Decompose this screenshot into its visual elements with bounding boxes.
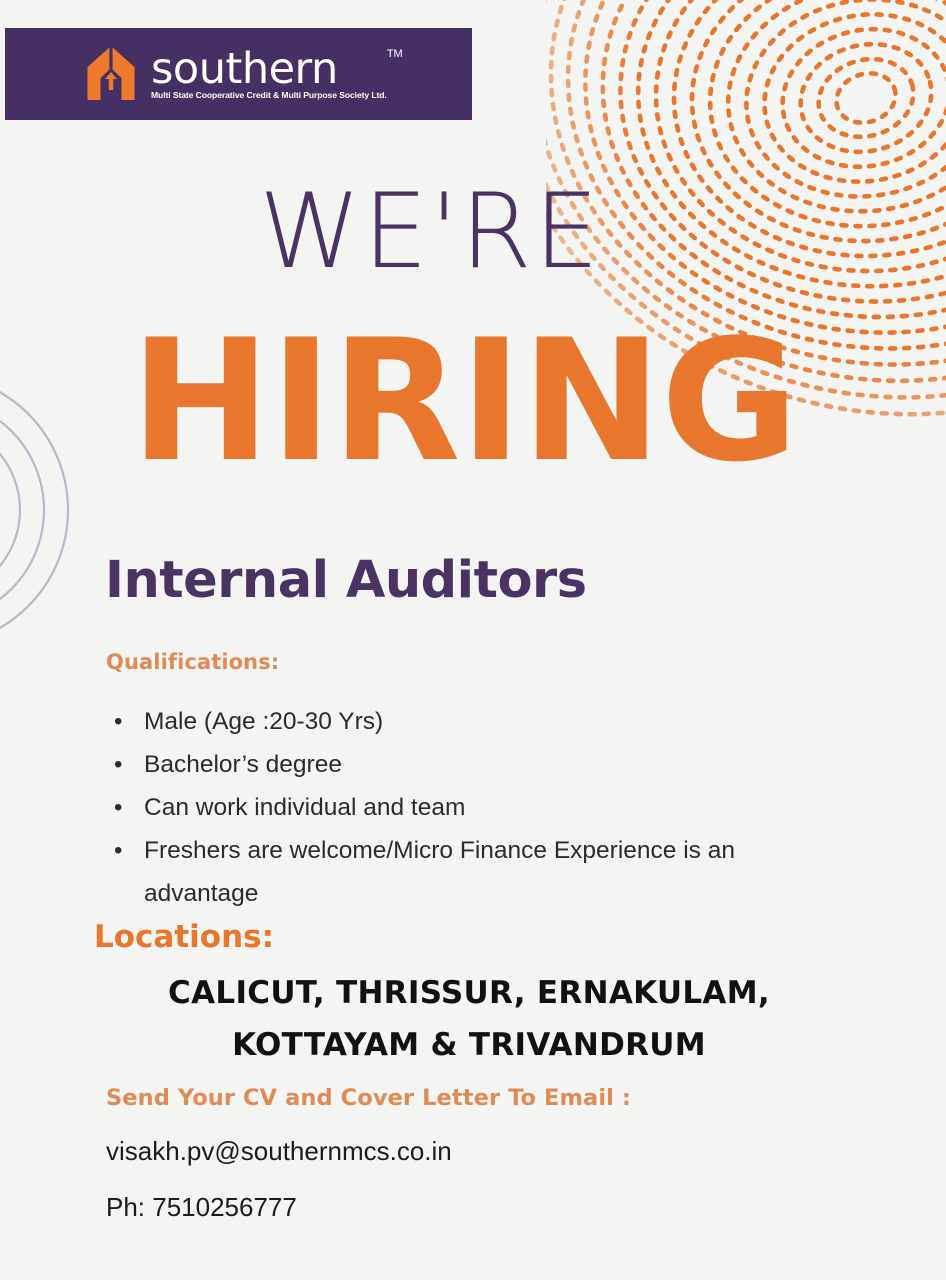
- job-title: Internal Auditors: [105, 553, 587, 609]
- list-item: • Can work individual and team: [106, 786, 826, 829]
- logo-wordmark: southern: [151, 50, 387, 90]
- list-item: • Male (Age :20-30 Yrs): [106, 700, 826, 743]
- bullet-icon: •: [114, 829, 122, 872]
- logo-text-block: southern TM Multi State Cooperative Cred…: [151, 48, 387, 101]
- list-item-label: Can work individual and team: [144, 794, 465, 821]
- qualifications-heading: Qualifications:: [106, 650, 279, 674]
- bullet-icon: •: [114, 743, 122, 786]
- qualifications-list: • Male (Age :20-30 Yrs) • Bachelor’s deg…: [106, 700, 826, 915]
- list-item: • Freshers are welcome/Micro Finance Exp…: [106, 829, 826, 915]
- list-item-label: Freshers are welcome/Micro Finance Exper…: [144, 837, 735, 907]
- locations-heading: Locations:: [94, 919, 274, 955]
- list-item: • Bachelor’s degree: [106, 743, 826, 786]
- contact-phone[interactable]: Ph: 7510256777: [106, 1192, 297, 1223]
- hiring-poster: southern TM Multi State Cooperative Cred…: [0, 0, 946, 1280]
- list-item-label: Male (Age :20-30 Yrs): [144, 708, 383, 735]
- headline-were: WE'RE: [0, 181, 946, 284]
- logo-tagline: Multi State Cooperative Credit & Multi P…: [151, 90, 387, 100]
- bullet-icon: •: [114, 700, 122, 743]
- list-item-label: Bachelor’s degree: [144, 751, 342, 778]
- locations-block: CALICUT, THRISSUR, ERNAKULAM, KOTTAYAM &…: [0, 967, 946, 1071]
- southern-house-logo-icon: [83, 45, 139, 103]
- headline-hiring: HIRING: [0, 317, 946, 485]
- locations-line-2: KOTTAYAM & TRIVANDRUM: [0, 1019, 938, 1071]
- send-cv-heading: Send Your CV and Cover Letter To Email :: [106, 1085, 631, 1111]
- brand-logo-bar: southern TM Multi State Cooperative Cred…: [5, 28, 472, 120]
- contact-email[interactable]: visakh.pv@southernmcs.co.in: [106, 1136, 452, 1167]
- trademark-symbol: TM: [387, 48, 403, 60]
- locations-line-1: CALICUT, THRISSUR, ERNAKULAM,: [0, 967, 938, 1019]
- bullet-icon: •: [114, 786, 122, 829]
